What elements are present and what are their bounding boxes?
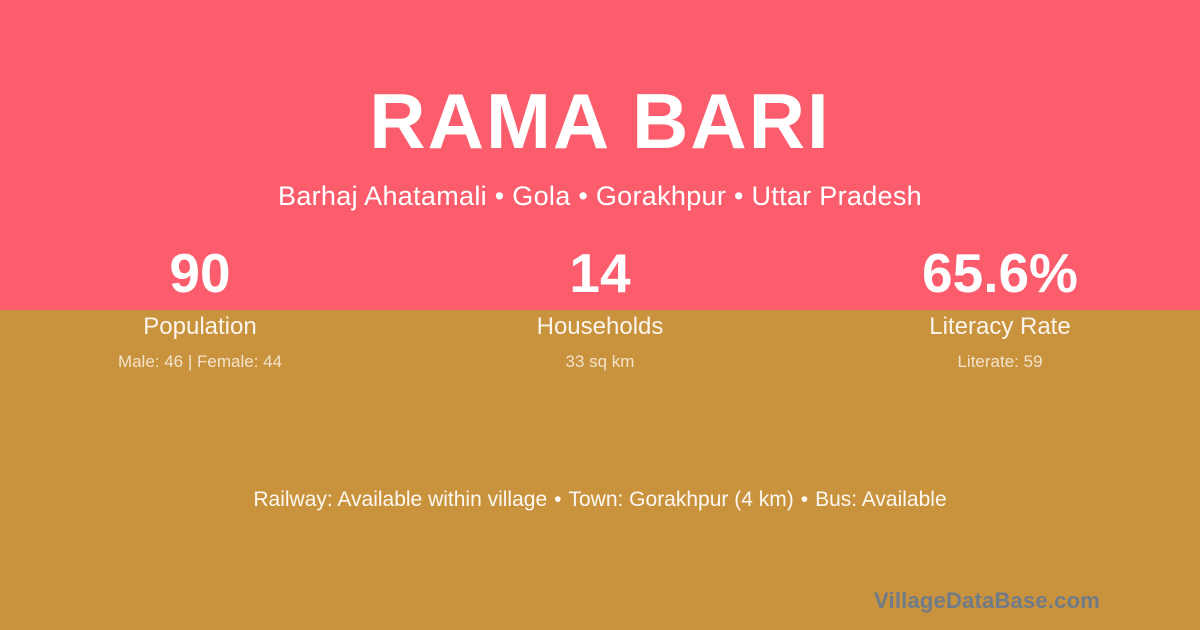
stat-literacy-rate-value: 65.6% xyxy=(800,246,1200,304)
stat-literacy-rate-detail: Literate: 59 xyxy=(800,353,1200,372)
page-title: RAMA BARI xyxy=(0,0,1200,160)
infra-separator-2: • xyxy=(794,488,815,511)
stat-literacy-rate: 65.6% Literacy Rate Literate: 59 xyxy=(800,246,1200,372)
stat-households-value: 14 xyxy=(400,246,800,304)
infrastructure-summary: Railway: Available within village•Town: … xyxy=(0,487,1200,512)
village-summary-card: RAMA BARI Barhaj Ahatamali • Gola • Gora… xyxy=(0,0,1200,630)
location-breadcrumb: Barhaj Ahatamali • Gola • Gorakhpur • Ut… xyxy=(0,160,1200,212)
stat-households-label: Households xyxy=(400,314,800,340)
infra-railway: Railway: Available within village xyxy=(253,488,547,511)
stat-population-detail: Male: 46 | Female: 44 xyxy=(0,353,400,372)
statistics-row: 90 Population Male: 46 | Female: 44 14 H… xyxy=(0,246,1200,372)
stat-population: 90 Population Male: 46 | Female: 44 xyxy=(0,246,400,372)
site-watermark: VillageDataBase.com xyxy=(874,589,1100,613)
infra-separator-1: • xyxy=(547,488,568,511)
stat-households: 14 Households 33 sq km xyxy=(400,246,800,372)
infra-bus: Bus: Available xyxy=(815,488,947,511)
stat-literacy-rate-label: Literacy Rate xyxy=(800,314,1200,340)
stat-population-value: 90 xyxy=(0,246,400,304)
stat-households-detail: 33 sq km xyxy=(400,353,800,372)
infra-town: Town: Gorakhpur (4 km) xyxy=(568,488,793,511)
stat-population-label: Population xyxy=(0,314,400,340)
card-header: RAMA BARI Barhaj Ahatamali • Gola • Gora… xyxy=(0,0,1200,212)
